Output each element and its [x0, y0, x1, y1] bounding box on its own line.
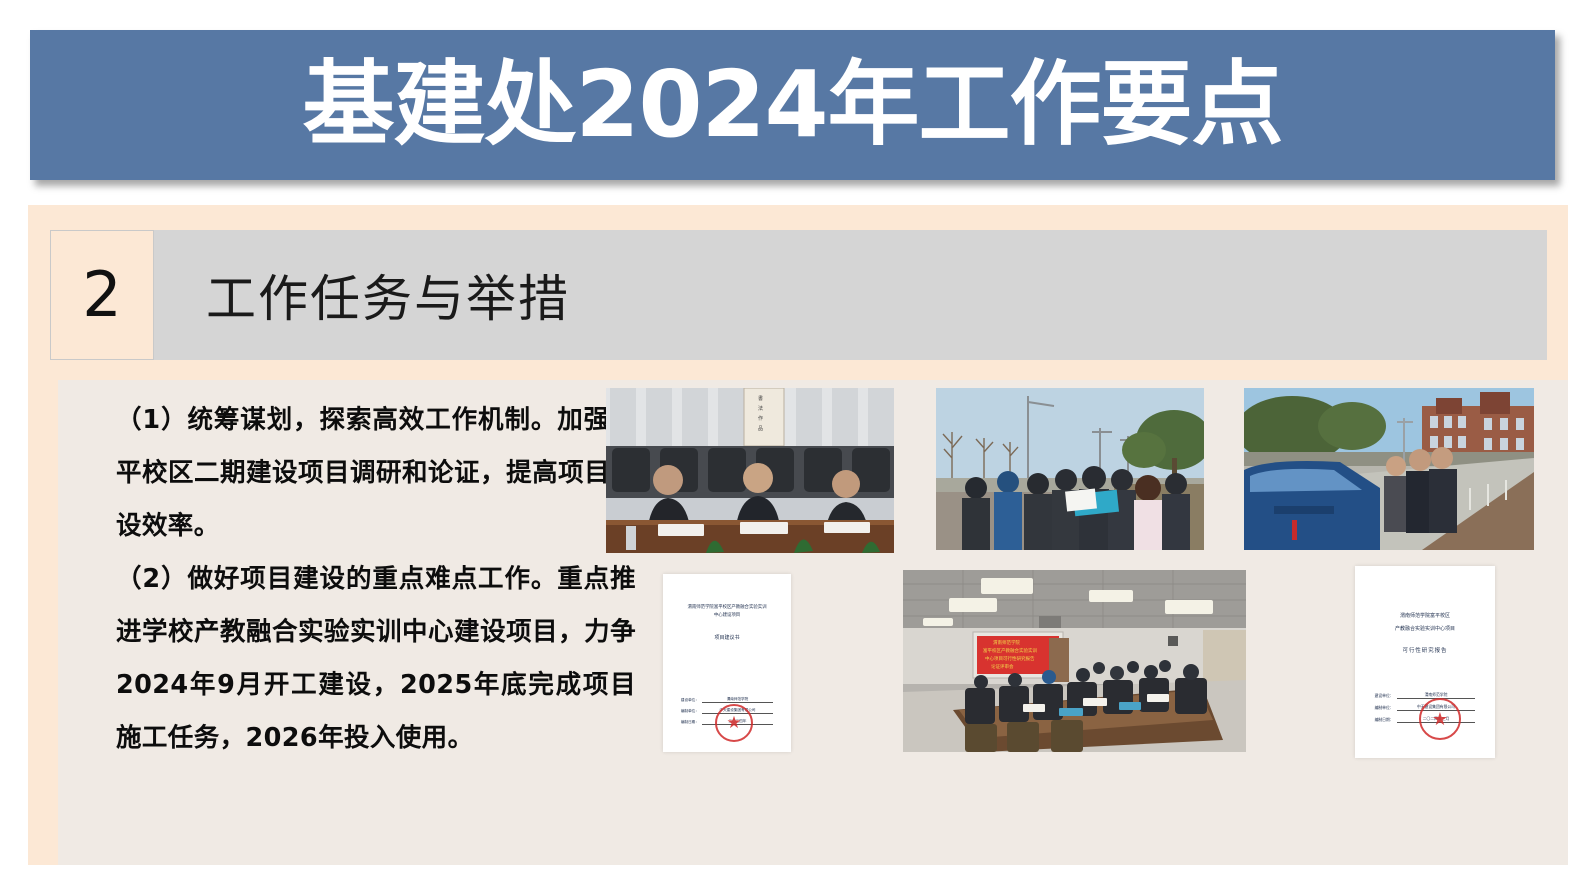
- svg-text:中心项目可行性研究报告: 中心项目可行性研究报告: [985, 655, 1035, 662]
- doc2-field-label-0: 建设单位：: [1375, 693, 1394, 699]
- svg-text:法: 法: [758, 405, 763, 412]
- doc1-subtitle: 项目建议书: [714, 634, 739, 641]
- doc2-field-label-1: 编制单位：: [1375, 705, 1394, 711]
- paragraph-1: （1）统筹谋划，探索高效工作机制。加强富平校区二期建设项目调研和论证，提高项目建…: [116, 394, 636, 553]
- doc1-field-label-0: 建设单位：: [681, 698, 699, 703]
- section-title: 工作任务与举措: [206, 259, 570, 331]
- doc1-field-label-2: 编制日期：: [681, 720, 699, 725]
- slide-title-banner: 基建处2024年工作要点: [30, 30, 1555, 180]
- paragraph-2: （2）做好项目建设的重点难点工作。重点推进学校产教融合实验实训中心建设项目，力争…: [116, 553, 636, 765]
- red-seal-icon: ★: [1419, 698, 1461, 740]
- meeting-room-photo: 書法作品: [606, 388, 894, 553]
- section-header: 2 工作任务与举措: [50, 230, 1547, 360]
- section-title-bar: 工作任务与举措: [154, 230, 1547, 360]
- svg-text:渭南师范学院: 渭南师范学院: [993, 639, 1020, 646]
- svg-text:富平校区产教融合实验实训: 富平校区产教融合实验实训: [983, 647, 1037, 654]
- doc1-title-line-1: 渭南师范学院富平校区产教融合实验实训: [687, 604, 766, 612]
- doc1-field-label-1: 编制单位：: [681, 709, 699, 714]
- campus-road-photo: [1244, 388, 1534, 550]
- section-number-box: 2: [50, 230, 154, 360]
- svg-text:论证评审会: 论证评审会: [991, 663, 1014, 670]
- svg-text:作: 作: [758, 415, 763, 422]
- seal-star: ★: [726, 713, 741, 733]
- section-number: 2: [82, 264, 121, 326]
- doc1-field-value-0: 渭南师范学院: [702, 697, 773, 703]
- doc2-field-row: 建设单位： 渭南师范学院: [1375, 692, 1476, 699]
- feasibility-study-document: 渭南师范学院富平校区 产教融合实验实训中心项目 可行性研究报告 建设单位： 渭南…: [1355, 566, 1495, 758]
- body-area: （1）统筹谋划，探索高效工作机制。加强富平校区二期建设项目调研和论证，提高项目建…: [58, 380, 1568, 865]
- page-title: 基建处2024年工作要点: [302, 59, 1282, 151]
- doc1-title-line-2: 中心建设项目: [687, 612, 766, 620]
- doc1-field-row: 建设单位： 渭南师范学院: [681, 697, 773, 703]
- site-survey-illustration: [936, 388, 1204, 550]
- doc2-field-label-2: 编制日期：: [1375, 717, 1394, 723]
- conference-hall-illustration: 渭南师范学院 富平校区产教融合实验实训 中心项目可行性研究报告 论证评审会: [903, 570, 1246, 752]
- svg-text:品: 品: [758, 426, 763, 432]
- text-column: （1）统筹谋划，探索高效工作机制。加强富平校区二期建设项目调研和论证，提高项目建…: [116, 394, 636, 765]
- red-seal-icon: ★: [715, 704, 753, 742]
- doc2-subtitle: 可行性研究报告: [1403, 646, 1448, 654]
- doc2-title-line-2: 产教融合实验实训中心项目: [1395, 623, 1455, 636]
- seal-star: ★: [1432, 709, 1448, 730]
- site-survey-photo: [936, 388, 1204, 550]
- meeting-room-illustration: 書法作品: [606, 388, 894, 553]
- svg-text:書: 書: [758, 395, 763, 402]
- doc2-title-line-1: 渭南师范学院富平校区: [1395, 610, 1455, 623]
- campus-road-illustration: [1244, 388, 1534, 550]
- project-proposal-document: 渭南师范学院富平校区产教融合实验实训 中心建设项目 项目建议书 建设单位： 渭南…: [663, 574, 791, 752]
- conference-hall-photo: 渭南师范学院 富平校区产教融合实验实训 中心项目可行性研究报告 论证评审会: [903, 570, 1246, 752]
- content-panel: 2 工作任务与举措 （1）统筹谋划，探索高效工作机制。加强富平校区二期建设项目调…: [28, 205, 1568, 865]
